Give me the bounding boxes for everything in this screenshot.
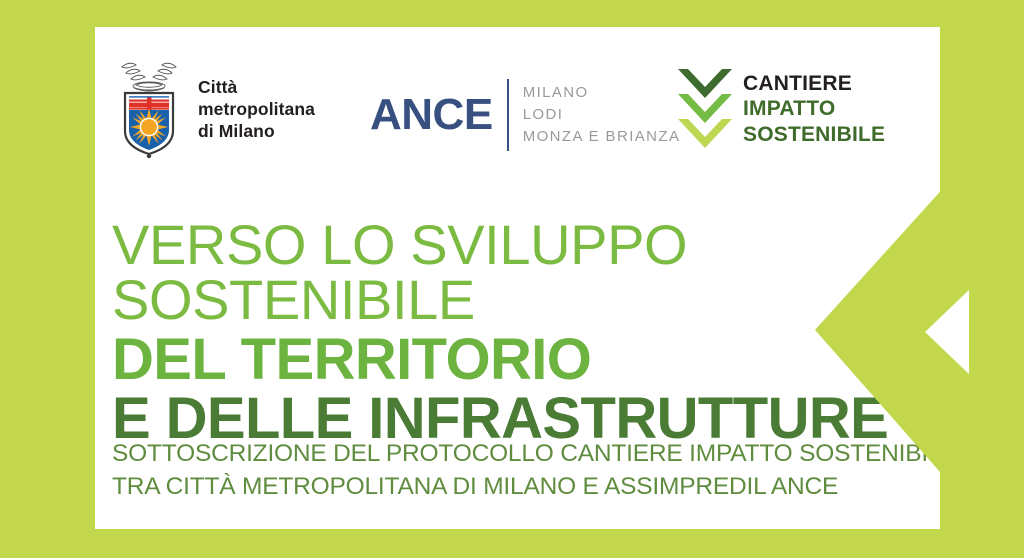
subtitle-line-2: TRA CITTÀ METROPOLITANA DI MILANO E ASSI… — [112, 471, 958, 504]
ance-city-list: MILANO LODI MONZA E BRIANZA — [523, 82, 681, 149]
logo-cantiere-impatto-sostenibile: CANTIERE IMPATTO SOSTENIBILE — [678, 69, 885, 149]
cm-line-2: metropolitana — [198, 98, 315, 120]
ance-city-1: MILANO — [523, 82, 681, 104]
cis-wordmark: CANTIERE IMPATTO SOSTENIBILE — [743, 71, 885, 148]
headline-block: VERSO LO SVILUPPO SOSTENIBILE DEL TERRIT… — [112, 217, 912, 448]
logo-ance: ANCE MILANO LODI MONZA E BRIANZA — [370, 79, 680, 151]
cis-line-1: CANTIERE — [743, 71, 885, 97]
cis-line-2: IMPATTO — [743, 96, 885, 122]
logo-row: Città metropolitana di Milano ANCE MILAN… — [95, 27, 940, 192]
poster-canvas: Città metropolitana di Milano ANCE MILAN… — [0, 0, 1024, 558]
citta-metropolitana-wordmark: Città metropolitana di Milano — [198, 76, 315, 143]
logo-citta-metropolitana: Città metropolitana di Milano — [112, 57, 315, 161]
triple-chevron-down-icon — [678, 69, 732, 149]
ance-divider — [507, 79, 509, 151]
headline-line-2: SOSTENIBILE — [112, 272, 912, 327]
citta-metropolitana-crest-icon — [112, 57, 186, 161]
subtitle-line-1: SOTTOSCRIZIONE DEL PROTOCOLLO CANTIERE I… — [112, 438, 958, 471]
subtitle-block: SOTTOSCRIZIONE DEL PROTOCOLLO CANTIERE I… — [112, 438, 958, 504]
cm-line-1: Città — [198, 76, 315, 98]
white-content-card: Città metropolitana di Milano ANCE MILAN… — [95, 27, 940, 529]
headline-line-3: DEL TERRITORIO — [112, 330, 912, 389]
headline-line-1: VERSO LO SVILUPPO — [112, 217, 912, 272]
cis-line-3: SOSTENIBILE — [743, 122, 885, 148]
ance-city-3: MONZA E BRIANZA — [523, 126, 681, 148]
cm-line-3: di Milano — [198, 120, 315, 142]
ance-city-2: LODI — [523, 104, 681, 126]
ance-wordmark: ANCE — [370, 93, 507, 137]
